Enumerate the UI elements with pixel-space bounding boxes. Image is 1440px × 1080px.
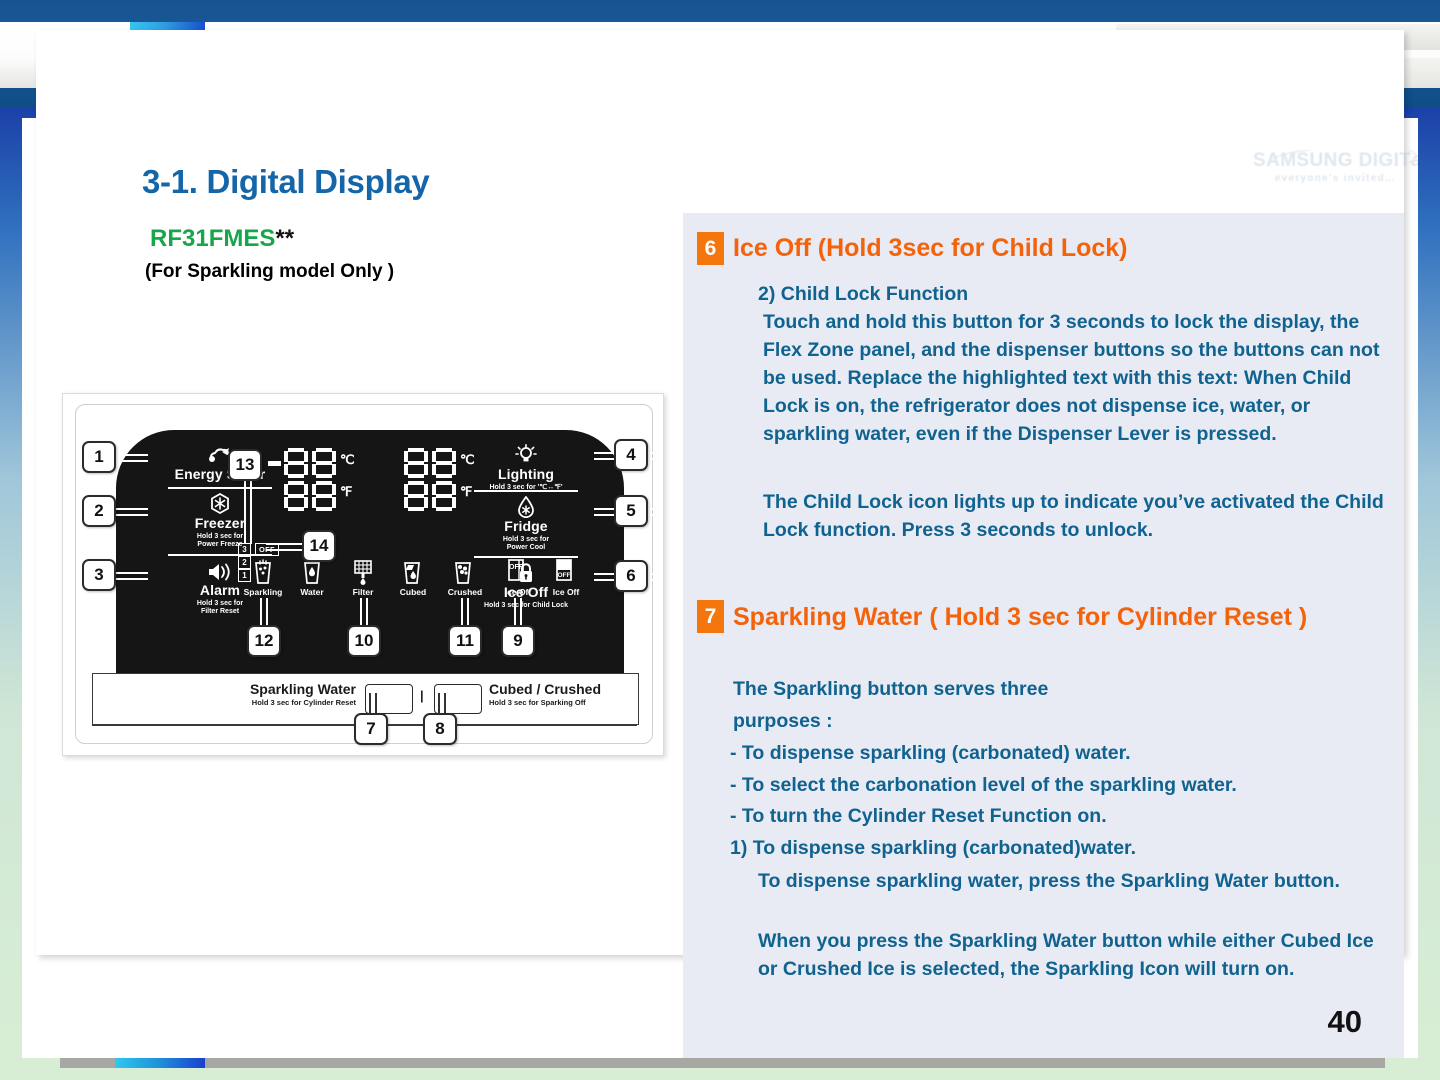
temperature-display-left: ℃ ℉ bbox=[284, 448, 336, 511]
callout-7: 7 bbox=[354, 713, 388, 745]
dispenser-right-text: Cubed / Crushed Hold 3 sec for Sparking … bbox=[489, 682, 639, 707]
function-hint: Hold 3 sec forPower Cool bbox=[468, 536, 584, 552]
section-heading-6: Ice Off (Hold 3sec for Child Lock) bbox=[733, 234, 1128, 263]
dispenser-left-title: Sparkling Water bbox=[206, 682, 356, 697]
page-number: 40 bbox=[1328, 1004, 1362, 1040]
model-number: RF31FMES** bbox=[150, 225, 294, 253]
callout-11: 11 bbox=[448, 625, 482, 657]
leader-9 bbox=[514, 598, 522, 626]
model-note: (For Sparkling model Only ) bbox=[145, 261, 394, 283]
svg-text:OFF: OFF bbox=[509, 564, 524, 571]
section7-bullet-3: - To turn the Cylinder Reset Function on… bbox=[730, 803, 1410, 831]
callout-4: 4 bbox=[614, 439, 648, 471]
crushed-ice-glass-icon bbox=[452, 559, 474, 590]
unit-celsius: ℃ bbox=[460, 452, 475, 468]
footer-accent bbox=[115, 1058, 205, 1068]
callout-8: 8 bbox=[423, 713, 457, 745]
watermark-line2: everyone's invited… bbox=[1253, 173, 1418, 184]
watermark-line1-suffix: all bbox=[1411, 150, 1418, 171]
callout-9: 9 bbox=[501, 625, 535, 657]
seven-segment-digits-2 bbox=[284, 481, 336, 511]
section-title: 3-1. Digital Display bbox=[142, 163, 429, 201]
leader-10 bbox=[360, 598, 368, 626]
callout-13: 13 bbox=[228, 449, 262, 481]
dispenser-left-hint: Hold 3 sec for Cylinder Reset bbox=[206, 698, 356, 707]
dispenser-separator: | bbox=[420, 688, 424, 703]
icon-label-ice-off-panel: Ice Off bbox=[540, 587, 592, 597]
leader-12 bbox=[260, 598, 268, 626]
callout-12: 12 bbox=[247, 625, 281, 657]
icon-label-crushed: Crushed bbox=[435, 587, 495, 597]
section6-paragraph-1: Touch and hold this button for 3 seconds… bbox=[763, 309, 1401, 448]
section7-item1-paragraph-2: When you press the Sparkling Water butto… bbox=[758, 928, 1378, 984]
section6-paragraph-2: The Child Lock icon lights up to indicat… bbox=[763, 489, 1393, 545]
carbonation-level-3: 3 bbox=[238, 543, 251, 556]
callout-5: 5 bbox=[614, 495, 648, 527]
function-fridge: Fridge Hold 3 sec forPower Cool bbox=[468, 496, 584, 551]
snowflake-icon bbox=[168, 493, 272, 515]
carbonation-level-1: 1 bbox=[238, 569, 251, 582]
function-freezer: Freezer Hold 3 sec forPower Freeze bbox=[168, 493, 272, 548]
dispenser-right-hint: Hold 3 sec for Sparking Off bbox=[489, 698, 639, 707]
model-number-text: RF31FMES bbox=[150, 225, 275, 252]
function-lighting: Lighting Hold 3 sec for '℃↔℉' bbox=[468, 444, 584, 492]
unit-celsius: ℃ bbox=[340, 452, 355, 468]
leader-13 bbox=[244, 472, 252, 544]
lightbulb-icon bbox=[468, 444, 584, 466]
seven-segment-digits-2 bbox=[404, 481, 456, 511]
carbonation-level-2: 2 bbox=[238, 556, 251, 569]
water-glass-icon bbox=[301, 559, 323, 590]
function-hint: Hold 3 sec forFilter Reset bbox=[168, 600, 272, 616]
ice-off-panel-icon: OFF bbox=[554, 558, 574, 589]
icon-label-ice-off-door: Ice Off bbox=[492, 587, 544, 597]
callout-1: 1 bbox=[82, 441, 116, 473]
callout-10: 10 bbox=[347, 625, 381, 657]
section7-intro-line1: The Sparkling button serves three bbox=[733, 676, 1393, 704]
temperature-display-right: ℃ ℉ bbox=[404, 448, 456, 511]
model-number-asterisks: ** bbox=[275, 225, 294, 252]
divider bbox=[168, 487, 272, 489]
section-badge-7: 7 bbox=[697, 600, 724, 633]
section-heading-7: Sparkling Water ( Hold 3 sec for Cylinde… bbox=[733, 603, 1307, 632]
minus-sign bbox=[268, 461, 281, 466]
watermark-line1: SAMSUNG DIGIT bbox=[1253, 150, 1411, 171]
function-label: Lighting bbox=[468, 467, 584, 482]
ice-off-door-icon: OFF bbox=[506, 558, 526, 589]
section-badge-6: 6 bbox=[697, 232, 724, 265]
function-label: Freezer bbox=[168, 516, 272, 531]
seven-segment-digits bbox=[284, 448, 336, 478]
display-panel-diagram: Energy Saver Freezer Hold 3 sec forPow bbox=[62, 393, 664, 756]
svg-text:OFF: OFF bbox=[558, 572, 571, 579]
dispenser-left-text: Sparkling Water Hold 3 sec for Cylinder … bbox=[206, 682, 356, 707]
sparkling-glass-icon bbox=[252, 559, 274, 590]
divider bbox=[474, 490, 578, 492]
section7-item1-paragraph-1: To dispense sparkling water, press the S… bbox=[758, 868, 1406, 896]
panel-card: Energy Saver Freezer Hold 3 sec forPow bbox=[75, 404, 653, 744]
samsung-digitall-watermark: SAMSUNG DIGITall everyone's invited… bbox=[1253, 150, 1418, 192]
droplet-snowflake-icon bbox=[468, 496, 584, 518]
callout-6: 6 bbox=[614, 560, 648, 592]
icon-label-water: Water bbox=[284, 587, 340, 597]
callout-3: 3 bbox=[82, 559, 116, 591]
function-hint: Hold 3 sec for Child Lock bbox=[468, 602, 584, 610]
section7-bullet-2: - To select the carbonation level of the… bbox=[730, 772, 1410, 800]
unit-fahrenheit: ℉ bbox=[340, 484, 352, 500]
dispenser-right-title: Cubed / Crushed bbox=[489, 682, 639, 697]
section6-subheading: 2) Child Lock Function bbox=[758, 281, 1398, 309]
icon-label-filter: Filter bbox=[337, 587, 389, 597]
seven-segment-digits bbox=[404, 448, 456, 478]
cubed-ice-glass-icon bbox=[401, 559, 423, 590]
icon-label-cubed: Cubed bbox=[386, 587, 440, 597]
section7-intro-line2: purposes : bbox=[733, 708, 1393, 736]
section7-bullet-1: - To dispense sparkling (carbonated) wat… bbox=[730, 740, 1410, 768]
function-label: Fridge bbox=[468, 519, 584, 534]
leader-11 bbox=[461, 598, 469, 626]
instruction-panel: 6 Ice Off (Hold 3sec for Child Lock) 2) … bbox=[683, 213, 1404, 1058]
callout-2: 2 bbox=[82, 495, 116, 527]
callout-14: 14 bbox=[302, 530, 336, 562]
unit-fahrenheit: ℉ bbox=[460, 484, 472, 500]
footer-bar bbox=[60, 1058, 1385, 1068]
section7-item-1: 1) To dispense sparkling (carbonated)wat… bbox=[730, 835, 1410, 863]
